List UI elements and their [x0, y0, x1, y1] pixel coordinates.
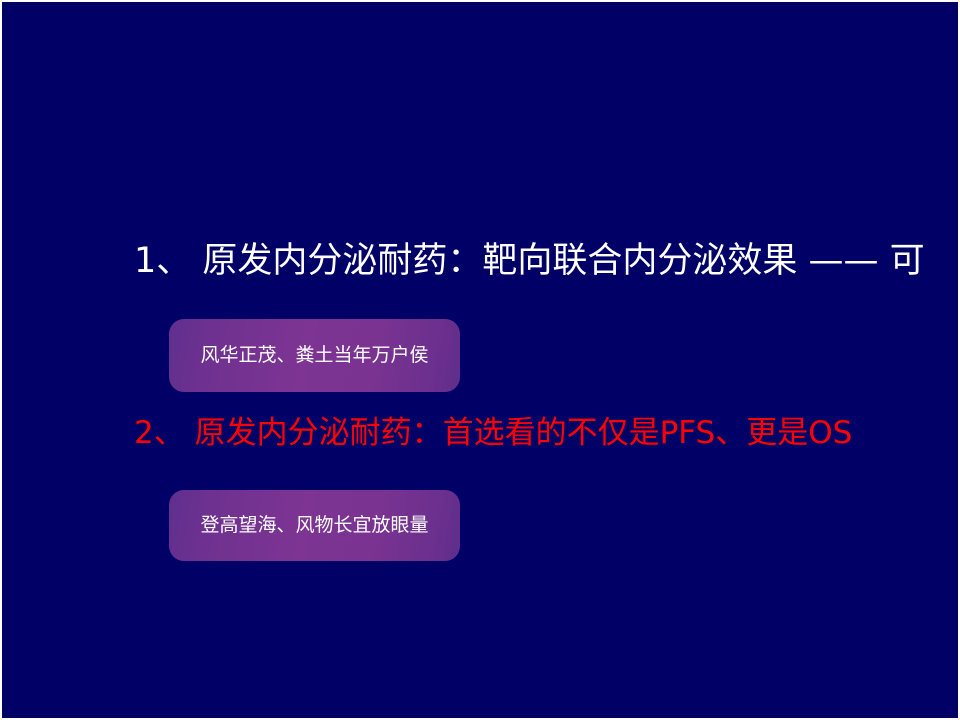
callout-box-2-label: 登高望海、风物长宜放眼量: [200, 514, 428, 537]
callout-box-1[interactable]: 风华正茂、粪土当年万户侯: [169, 319, 460, 392]
callout-box-2[interactable]: 登高望海、风物长宜放眼量: [169, 490, 460, 561]
slide-heading-1: 1、 原发内分泌耐药：靶向联合内分泌效果 —— 可: [134, 242, 925, 281]
callout-box-1-label: 风华正茂、粪土当年万户侯: [200, 344, 428, 367]
slide-heading-2: 2、 原发内分泌耐药：首选看的不仅是PFS、更是OS: [134, 416, 852, 450]
presentation-slide: 1、 原发内分泌耐药：靶向联合内分泌效果 —— 可 风华正茂、粪土当年万户侯 2…: [0, 0, 960, 720]
